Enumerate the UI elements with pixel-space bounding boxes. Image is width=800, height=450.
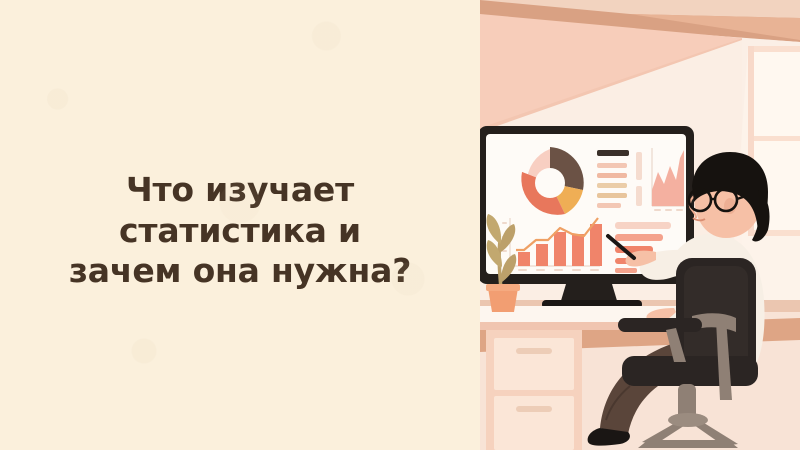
monitor [480,126,694,309]
legend-side-tick-a [636,152,642,180]
plant-pot [488,288,518,312]
bar-chart-xtick-3 [554,269,563,271]
hbar-1 [615,222,671,229]
donut-hole [535,168,565,198]
drawer-cabinet [486,330,582,450]
title-line-1: Что изучает [20,170,460,211]
bar-chart-xtick-5 [590,269,599,271]
bar-3 [554,232,566,266]
title-line-3: зачем она нужна? [20,251,460,292]
title-panel: Что изучает статистика и зачем она нужна… [0,0,480,450]
hbar-5 [615,268,637,273]
title-line-2: статистика и [20,211,460,252]
bar-chart-xtick-4 [572,269,581,271]
area-chart-xtick-3 [676,209,683,211]
hbar-2 [615,234,663,241]
cabinet-drawer-bottom [494,396,574,450]
bar-4 [572,234,584,266]
bar-chart-ytick-1 [502,222,507,224]
bar-1 [518,252,530,266]
area-chart-xtick-1 [654,209,661,211]
area-chart-xtick-2 [665,209,672,211]
cabinet-handle-bottom [516,406,552,412]
illustration-panel [480,0,800,450]
cabinet-handle-top [516,348,552,354]
chair-base-hub [668,413,708,427]
bar-2 [536,244,548,266]
legend-row-0 [597,150,629,156]
chair-armrest-pad [618,318,702,332]
plant-pot-rim [486,284,520,291]
chair-seat [622,356,758,386]
legend-row-5 [597,203,621,208]
page-title: Что изучает статистика и зачем она нужна… [20,170,460,293]
legend-row-4 [597,193,627,198]
cabinet-drawer-top [494,338,574,390]
legend-row-3 [597,183,627,188]
illustration-svg [480,0,800,450]
slide-root: Что изучает статистика и зачем она нужна… [0,0,800,450]
legend-side-tick-b [636,186,642,206]
legend-row-1 [597,163,627,168]
legend-row-2 [597,173,627,178]
bar-5 [590,224,602,266]
bar-chart-xtick-1 [518,269,527,271]
bar-chart-xtick-2 [536,269,545,271]
